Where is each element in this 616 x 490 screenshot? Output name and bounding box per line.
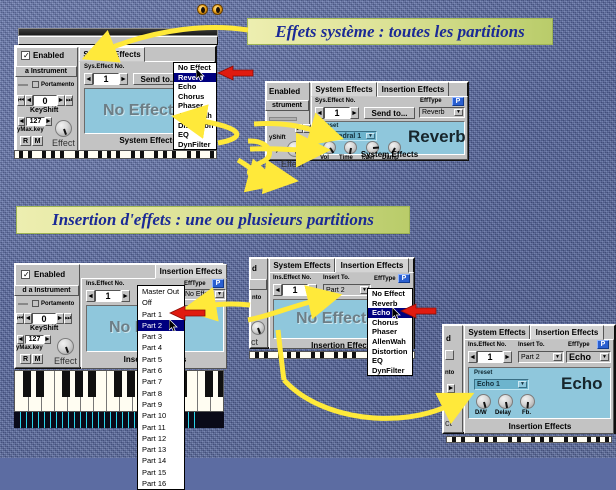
portamento-label-1: Portamento	[41, 82, 74, 88]
velmax-value-3[interactable]: 127	[25, 335, 44, 344]
effect-knob-2[interactable]	[287, 141, 303, 157]
r-button-1[interactable]: R	[20, 136, 31, 146]
dropdown-item[interactable]: Part 10	[138, 410, 184, 421]
tab-insertion-effects-2[interactable]: Insertion Effects	[377, 82, 449, 97]
piano-keyboard-2[interactable]	[14, 370, 224, 412]
efftype-combo-3[interactable]: No Effect ▼	[182, 289, 226, 300]
chevron-down-icon[interactable]: ▼	[366, 133, 375, 139]
ins-effect-next-3[interactable]: ►	[121, 290, 130, 302]
instrument-strip-5: d nto ► a ct	[443, 325, 463, 433]
keyshift-next-1[interactable]: ►	[57, 95, 65, 106]
effect-knob-3[interactable]	[57, 338, 74, 355]
instrument-strip-4: d nto ct	[250, 258, 268, 348]
panel-echo: d nto ► a ct System Effects Insertion Ef…	[442, 324, 616, 434]
system-effects-banner: Effets système : toutes les partitions	[247, 18, 553, 45]
efftype-dropdown-2[interactable]: No Effect Reverb Echo Chorus Phaser Alle…	[367, 288, 413, 376]
sys-effect-prev-2[interactable]: ◄	[315, 107, 324, 119]
p-button-5[interactable]: P	[597, 340, 609, 349]
efftype-dropdown-1[interactable]: No Effect Reverb Echo Chorus Phaser Alle…	[173, 62, 217, 150]
effect-label-1: Effect	[52, 138, 75, 148]
chevron-down-icon[interactable]: ▼	[454, 109, 463, 116]
value-bar-2	[269, 117, 297, 121]
dropdown-item[interactable]: Part 7	[138, 376, 184, 387]
enabled-label-3: Enabled	[34, 270, 65, 279]
dropdown-item[interactable]: Part 5	[138, 354, 184, 365]
effect-label-3: Effect	[54, 356, 77, 366]
tab-system-effects-4[interactable]: System Effects	[269, 258, 335, 273]
efftype-combo-value-2: Reverb	[422, 109, 445, 116]
dropdown-item[interactable]: Part 9	[138, 399, 184, 410]
slider-line-1	[18, 84, 28, 86]
chevron-down-icon[interactable]: ▼	[215, 291, 224, 298]
ins-effect-no-label-4: Ins.Effect No.	[273, 275, 311, 281]
keyshift-prev-3[interactable]: ◄	[24, 313, 32, 324]
velmax-prev-3[interactable]: ◄	[17, 335, 24, 344]
tab-insertion-effects-3[interactable]: Insertion Effects	[155, 264, 227, 279]
insert-to-label-4: Insert To.	[323, 275, 350, 281]
dropdown-item[interactable]: Phaser	[368, 327, 412, 337]
dropdown-item[interactable]: Distortion	[368, 347, 412, 357]
enabled-label-5: d	[446, 334, 451, 343]
panel-footer-5: Insertion Effects	[465, 422, 615, 431]
keyshift-first-1[interactable]: ⏮	[17, 95, 25, 106]
mouse-cursor-2	[169, 319, 179, 333]
efftype-combo-2[interactable]: Reverb ▼	[419, 107, 465, 118]
preset-label-5: Preset	[474, 370, 492, 376]
velmax-next-1[interactable]: ►	[45, 117, 52, 126]
ins-effect-no-label-5: Ins.Effect No.	[468, 342, 506, 348]
keyshift-next-3[interactable]: ►	[56, 313, 64, 324]
console-frame-top	[18, 36, 218, 45]
preset-value-5: Echo 1	[477, 381, 500, 388]
insert-to-label-5: Insert To.	[518, 342, 545, 348]
piano-keyboard-1[interactable]	[14, 150, 217, 159]
piano-keyboard-4[interactable]	[446, 436, 612, 443]
keyshift-next-2[interactable]: ►	[295, 124, 303, 133]
banner-text-2: Insertion d'effets : une ou plusieurs pa…	[52, 210, 374, 230]
keyshift-spin-5[interactable]: ►	[447, 384, 455, 393]
efftype-label-2: EffType	[420, 98, 442, 104]
dropdown-item-selected[interactable]: Echo	[368, 308, 412, 318]
mouse-cursor-1	[196, 68, 206, 82]
dropdown-item[interactable]: Part 13	[138, 444, 184, 455]
effect-knob-4[interactable]	[251, 321, 265, 335]
send-to-button-2[interactable]: Send to...	[364, 107, 415, 119]
dropdown-item[interactable]: No Effect	[368, 289, 412, 299]
instrument-strip-1: ✓ Enabled a Instrument Portamento ⏮ ◄ 0 …	[16, 47, 78, 151]
tab-system-effects-1[interactable]: System Effects	[79, 47, 145, 62]
slider-line-3	[18, 303, 28, 305]
dropdown-item[interactable]: Off	[138, 297, 184, 308]
velmax-label-5: a	[445, 404, 448, 410]
dropdown-item[interactable]: Chorus	[368, 318, 412, 328]
sys-effect-no-label-1: Sys.Effect No.	[84, 64, 124, 70]
dropdown-item[interactable]: Part 8	[138, 388, 184, 399]
insert-to-value-4: Part 2	[326, 287, 345, 294]
dropdown-item[interactable]: Part 16	[138, 478, 184, 489]
dropdown-item[interactable]: No Effect	[174, 63, 216, 73]
efftype-label-5: EffType	[568, 342, 590, 348]
insert-to-combo-5[interactable]: Part 2 ▼	[518, 351, 564, 363]
ins-effect-value-4[interactable]: 1	[282, 284, 308, 296]
p-button-4[interactable]: P	[398, 274, 410, 283]
console-top-bar	[18, 28, 218, 36]
tab-system-effects-5[interactable]: System Effects	[464, 325, 530, 340]
ins-effect-prev-4[interactable]: ◄	[273, 284, 282, 296]
no-effect-text-1: No Effect	[103, 102, 173, 120]
portamento-checkbox-3[interactable]	[32, 300, 39, 307]
enabled-label-4: d	[252, 264, 257, 273]
panel-reverb: Enabled strument ► ⏭ yShift key Effect S…	[265, 81, 469, 161]
piano-black-keys-1	[15, 151, 216, 158]
dropdown-item[interactable]: DynFilter	[174, 140, 216, 150]
effect-label-2: Effect	[281, 159, 304, 169]
instrument-button-3[interactable]: d a Instrument	[14, 285, 79, 296]
mouse-cursor-3	[392, 307, 402, 321]
keyshift-label-3: KeyShift	[30, 325, 58, 332]
sys-effect-next-1[interactable]: ►	[119, 73, 128, 85]
panel-body-5: Ins.Effect No. ◄ 1 ► Insert To. Part 2 ▼…	[464, 339, 614, 434]
dropdown-item[interactable]: Chorus	[174, 92, 216, 102]
preset-value-2: Cathedral 1	[323, 133, 361, 140]
dropdown-item[interactable]: Reverb	[368, 299, 412, 309]
sys-effect-value-1[interactable]: 1	[93, 73, 119, 85]
dropdown-item[interactable]: AllenWah	[174, 111, 216, 121]
ins-effect-value-5[interactable]: 1	[477, 351, 503, 363]
efftype-combo-value-3: No Effect	[185, 291, 214, 298]
knob-label-delay-5: Delay	[495, 410, 511, 416]
p-button-3[interactable]: P	[212, 279, 224, 288]
keyshift-value-1[interactable]: 0	[33, 95, 57, 106]
instrument-strip-3: ✓ Enabled d a Instrument Portamento ⏮ ◄ …	[15, 264, 80, 368]
velmax-label-3: yMax.key	[16, 345, 43, 351]
console-led-right	[212, 4, 223, 15]
insert-to-dropdown[interactable]: Master Out Off Part 1 Part 2 Part 3 Part…	[137, 285, 185, 490]
sys-effect-value-2[interactable]: 1	[324, 107, 350, 119]
effect-display-5: Preset Echo 1 ▼ Echo D/W Delay Fb.	[468, 367, 611, 419]
dropdown-item[interactable]: Part 6	[138, 365, 184, 376]
dropdown-item[interactable]: Master Out	[138, 286, 184, 297]
insert-to-combo-4[interactable]: Part 2 ▼	[323, 284, 371, 296]
efftype-combo-5[interactable]: Echo ▼	[566, 351, 611, 363]
console-led-left	[197, 4, 208, 15]
preset-label-2: Preset	[320, 123, 338, 129]
preset-combo-5[interactable]: Echo 1 ▼	[474, 379, 529, 390]
m-button-1[interactable]: M	[32, 136, 43, 146]
instrument-button-4[interactable]	[249, 279, 267, 290]
efftype-combo-value-5: Echo	[569, 352, 591, 362]
ins-effect-prev-3[interactable]: ◄	[86, 290, 95, 302]
piano-black-keys-2	[15, 371, 223, 411]
chevron-down-icon[interactable]: ▼	[518, 381, 527, 388]
effect-knob-1[interactable]	[55, 120, 72, 137]
ins-effect-prev-5[interactable]: ◄	[468, 351, 477, 363]
ins-effect-value-3[interactable]: 1	[95, 290, 121, 302]
ins-effect-no-label-3: Ins.Effect No.	[86, 281, 124, 287]
portamento-label-5: nto	[445, 370, 454, 376]
tab-system-effects-2[interactable]: System Effects	[311, 82, 377, 97]
velocity-bar[interactable]	[14, 412, 224, 428]
ins-effect-next-4[interactable]: ►	[308, 284, 317, 296]
instrument-button-5[interactable]	[445, 350, 454, 360]
ins-effect-next-5[interactable]: ►	[503, 351, 512, 363]
effect-label-5: ct	[445, 418, 452, 428]
enabled-checkbox-1[interactable]: ✓	[21, 51, 30, 60]
sys-effect-next-2[interactable]: ►	[350, 107, 359, 119]
dropdown-item[interactable]: Part 15	[138, 467, 184, 478]
knob-dw-5[interactable]	[476, 394, 491, 409]
dropdown-item[interactable]: Echo	[174, 82, 216, 92]
keyshift-prev-1[interactable]: ◄	[25, 95, 33, 106]
velmax-value-1[interactable]: 127	[26, 117, 45, 126]
velmax-next-3[interactable]: ►	[44, 335, 51, 344]
keyshift-label-2: yShift	[269, 135, 286, 141]
chevron-down-icon[interactable]: ▼	[553, 353, 562, 361]
efftype-label-3: EffType	[184, 281, 206, 287]
portamento-checkbox-1[interactable]	[32, 81, 39, 88]
insert-to-value-5: Part 2	[521, 354, 540, 361]
m-button-3[interactable]: M	[32, 354, 43, 364]
keyshift-last-1[interactable]: ⏭	[65, 95, 73, 106]
key-label-2: key	[269, 147, 279, 153]
dropdown-item[interactable]: EQ	[174, 130, 216, 140]
chevron-down-icon[interactable]: ▼	[600, 353, 609, 361]
tab-insertion-effects-4[interactable]: Insertion Effects	[335, 258, 409, 273]
keyshift-value-3[interactable]: 0	[32, 313, 56, 324]
knob-label-fb-5: Fb.	[522, 410, 531, 416]
velmax-label-1: yMax.key	[17, 127, 44, 133]
dropdown-item-selected[interactable]: Reverb	[174, 73, 216, 83]
preset-combo-2[interactable]: Cathedral 1 ▼	[320, 131, 377, 141]
keyshift-first-3[interactable]: ⏮	[16, 313, 24, 324]
velmax-prev-1[interactable]: ◄	[18, 117, 25, 126]
r-button-3[interactable]: R	[20, 354, 31, 364]
keyshift-last-3[interactable]: ⏭	[64, 313, 72, 324]
panel-insertion-parts: ✓ Enabled d a Instrument Portamento ⏮ ◄ …	[14, 263, 224, 369]
sys-effect-prev-1[interactable]: ◄	[84, 73, 93, 85]
effect-title-2: Reverb	[408, 127, 466, 147]
dropdown-item[interactable]: Part 12	[138, 433, 184, 444]
keyshift-last-2[interactable]: ⏭	[303, 124, 311, 133]
dropdown-item[interactable]: DynFilter	[368, 366, 412, 376]
piano-black-keys-4	[447, 437, 611, 442]
enabled-label-1: Enabled	[33, 51, 64, 60]
dropdown-item[interactable]: EQ	[368, 356, 412, 366]
instrument-button-1[interactable]: a Instrument	[15, 66, 77, 77]
banner-text-1: Effets système : toutes les partitions	[275, 22, 525, 42]
dropdown-item[interactable]: Part 11	[138, 422, 184, 433]
efftype-label-4: EffType	[374, 276, 396, 282]
dropdown-item[interactable]: Distortion	[174, 121, 216, 131]
insertion-effects-banner: Insertion d'effets : une ou plusieurs pa…	[16, 206, 410, 234]
portamento-label-3: Portamento	[41, 301, 74, 307]
no-effect-text-4: No Effect	[296, 310, 366, 328]
knob-fb-5[interactable]	[520, 394, 535, 409]
sys-effect-no-label-2: Sys.Effect No.	[315, 98, 355, 104]
effect-label-4: ct	[251, 337, 258, 347]
knob-label-dw-5: D/W	[475, 410, 487, 416]
dropdown-item[interactable]: Phaser	[174, 101, 216, 111]
portamento-label-4: nto	[252, 295, 261, 301]
effect-title-5: Echo	[561, 374, 603, 394]
instrument-button-2[interactable]: strument	[265, 100, 309, 111]
enabled-checkbox-3[interactable]: ✓	[21, 270, 30, 279]
knob-delay-5[interactable]	[498, 394, 513, 409]
dropdown-item[interactable]: AllenWah	[368, 337, 412, 347]
panel-footer-2: System Effects	[311, 150, 468, 159]
dropdown-item[interactable]: Part 14	[138, 455, 184, 466]
tab-insertion-effects-5[interactable]: Insertion Effects	[530, 325, 604, 340]
instrument-strip-2: Enabled strument ► ⏭ yShift key Effect	[266, 82, 310, 160]
p-button-2[interactable]: P	[452, 97, 464, 106]
keyshift-label-1: KeyShift	[30, 107, 58, 114]
dropdown-item[interactable]: Part 4	[138, 342, 184, 353]
enabled-label-2: Enabled	[269, 87, 300, 96]
